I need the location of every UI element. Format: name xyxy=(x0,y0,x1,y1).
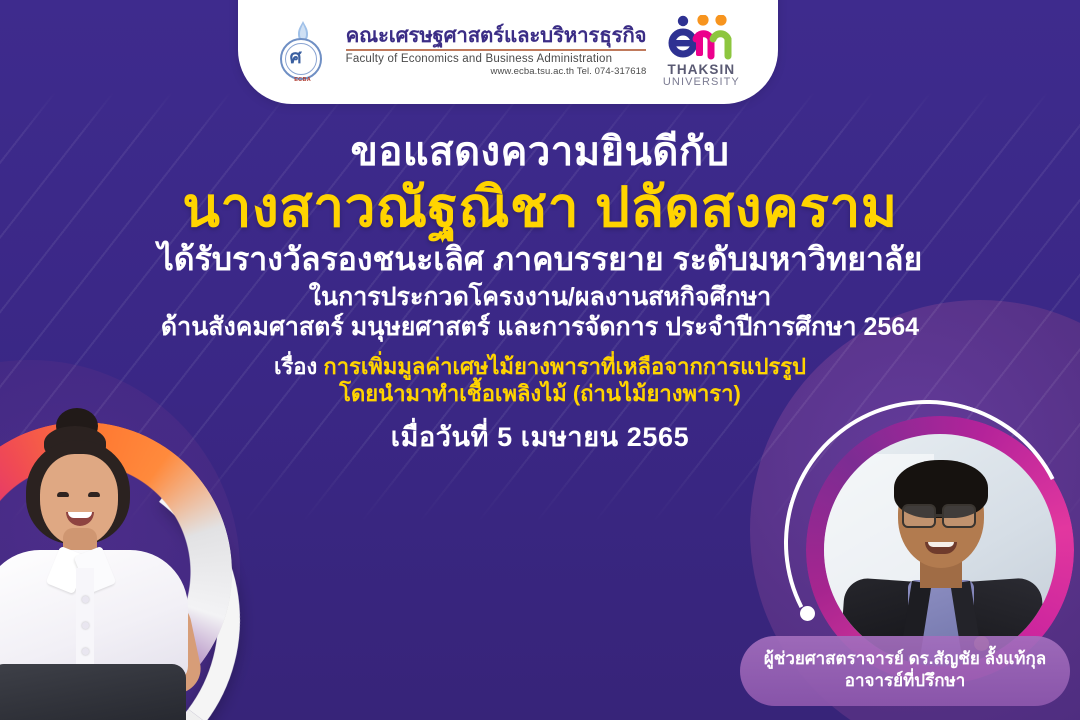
advisor-name-banner: ผู้ช่วยศาสตราจารย์ ดร.สัญชัย ลั้งแท้กุล … xyxy=(740,636,1070,706)
thaksin-em-logo-icon xyxy=(662,15,740,61)
advisor-portrait xyxy=(824,434,1056,666)
topic-line: เรื่อง การเพิ่มมูลค่าเศษไม้ยางพาราที่เหล… xyxy=(0,355,1080,380)
header-banner: ศ ECBA คณะเศรษฐศาสตร์และบริหารธุรกิจ Fac… xyxy=(238,0,778,104)
main-content: ขอแสดงความยินดีกับ นางสาวณัฐณิชา ปลัดสงค… xyxy=(0,130,1080,453)
faculty-divider xyxy=(346,49,647,50)
faculty-contact: www.ecba.tsu.ac.th Tel. 074-317618 xyxy=(346,67,647,77)
award-sub-line: ในการประกวดโครงงาน/ผลงานสหกิจศึกษา xyxy=(0,283,1080,311)
advisor-arc-dot xyxy=(800,606,815,621)
topic-label: เรื่อง xyxy=(274,354,323,379)
event-date: เมื่อวันที่ 5 เมษายน 2565 xyxy=(0,422,1080,452)
faculty-name-block: คณะเศรษฐศาสตร์และบริหารธุรกิจ Faculty of… xyxy=(346,26,647,77)
ecba-seal-label: ECBA xyxy=(276,77,330,83)
topic-line-2: โดยนำมาทำเชื้อเพลิงไม้ (ถ่านไม้ยางพารา) xyxy=(0,382,1080,407)
student-name: นางสาวณัฐณิชา ปลัดสงคราม xyxy=(0,177,1080,239)
award-main-line: ได้รับรางวัลรองชนะเลิศ ภาคบรรยาย ระดับมห… xyxy=(0,242,1080,278)
ecba-seal-icon: ศ ECBA xyxy=(276,20,330,82)
thaksin-subname: UNIVERSITY xyxy=(662,77,740,88)
advisor-role: อาจารย์ที่ปรึกษา xyxy=(758,670,1052,692)
faculty-name-th: คณะเศรษฐศาสตร์และบริหารธุรกิจ xyxy=(346,26,647,47)
congrats-heading: ขอแสดงความยินดีกับ xyxy=(0,130,1080,175)
thaksin-university-logo: THAKSIN UNIVERSITY xyxy=(662,15,740,89)
faculty-name-en: Faculty of Economics and Business Admini… xyxy=(346,54,647,66)
award-sub-line-2: ด้านสังคมศาสตร์ มนุษยศาสตร์ และการจัดการ… xyxy=(0,313,1080,341)
congratulation-poster: ศ ECBA คณะเศรษฐศาสตร์และบริหารธุรกิจ Fac… xyxy=(0,0,1080,720)
advisor-name: ผู้ช่วยศาสตราจารย์ ดร.สัญชัย ลั้งแท้กุล xyxy=(758,648,1052,670)
thaksin-name: THAKSIN xyxy=(662,63,740,77)
topic-value: การเพิ่มมูลค่าเศษไม้ยางพาราที่เหลือจากกา… xyxy=(323,354,806,379)
